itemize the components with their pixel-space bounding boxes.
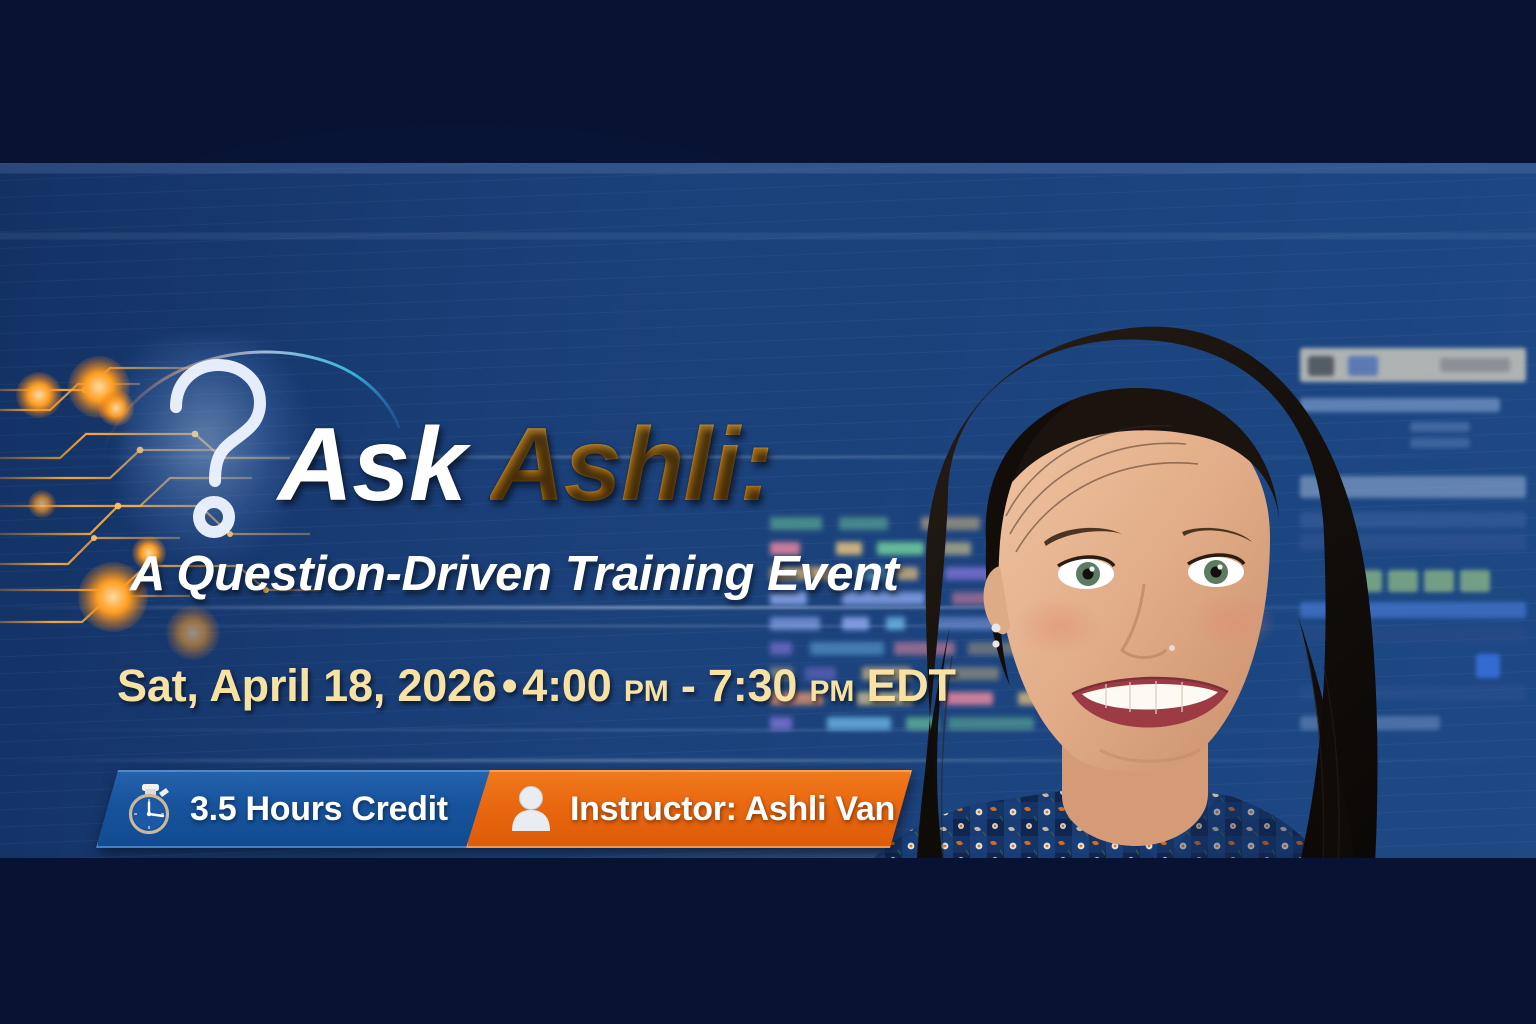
ui-tiles-texture (150, 853, 850, 858)
page-title: Ask Ashli: (278, 413, 773, 517)
instructor-badge[interactable]: Instructor: Ashli Van Dyke (466, 770, 912, 848)
event-datetime: Sat, April 18, 2026•4:00 PM - 7:30 PM ED… (117, 660, 956, 712)
stopwatch-icon (126, 784, 174, 834)
event-timezone: EDT (866, 660, 955, 711)
credit-badge[interactable]: 3.5 Hours Credit (96, 770, 496, 848)
date-separator: • (497, 660, 523, 711)
time-range-dash: - (681, 660, 696, 711)
title-part-ashli: Ashli: (490, 407, 773, 523)
page-subtitle: A Question-Driven Training Event (130, 546, 899, 602)
event-end-time: 7:30 (708, 660, 797, 711)
event-start-time: 4:00 (522, 660, 611, 711)
event-end-meridiem: PM (810, 675, 855, 708)
credit-badge-label: 3.5 Hours Credit (190, 790, 448, 829)
page-root: Ask Ashli: A Question-Driven Training Ev… (0, 0, 1536, 1024)
title-part-ask: Ask (278, 407, 490, 523)
person-icon (510, 785, 552, 833)
badge-bar: 3.5 Hours Credit Instructor: Ashli Van D… (96, 770, 912, 848)
event-date: Sat, April 18, 2026 (117, 660, 497, 711)
event-start-meridiem: PM (624, 675, 669, 708)
question-mark-icon (150, 355, 280, 545)
event-banner: Ask Ashli: A Question-Driven Training Ev… (0, 163, 1536, 858)
